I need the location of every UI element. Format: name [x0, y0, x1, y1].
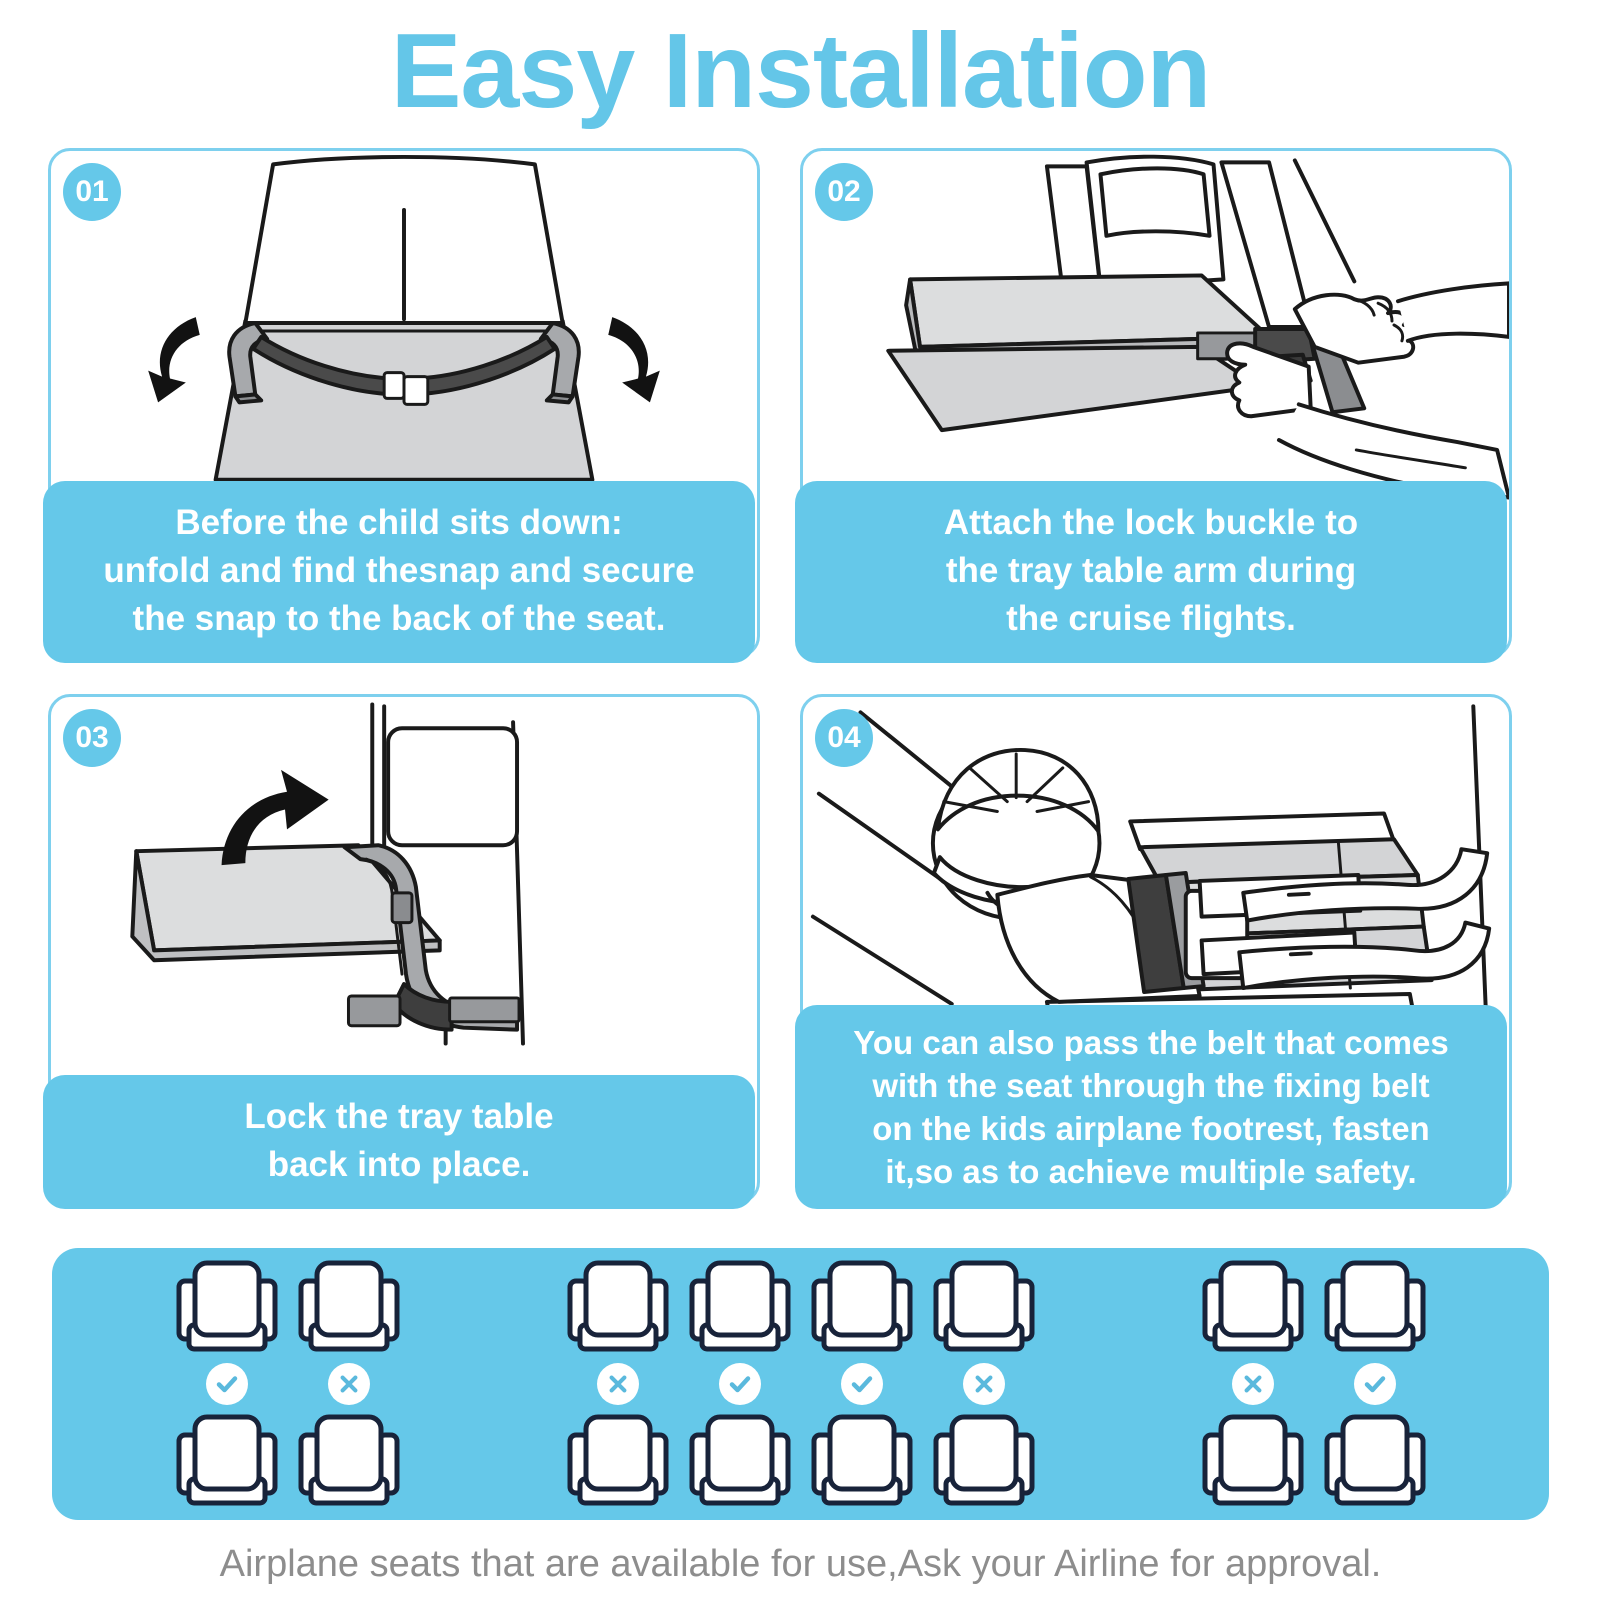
seat-availability-panel [52, 1248, 1549, 1520]
caption-line: You can also pass the belt that comes [803, 1021, 1499, 1064]
seat-column [1201, 1259, 1305, 1509]
airplane-seat-icon [1201, 1259, 1305, 1355]
seat-column [297, 1259, 401, 1509]
step-illustration-03 [51, 697, 757, 1049]
airplane-seat-icon [566, 1413, 670, 1509]
caption-line: the tray table arm during [805, 547, 1497, 595]
airplane-seat-icon [175, 1259, 279, 1355]
airplane-seat-icon [1323, 1413, 1427, 1509]
seat-status-wrap [1232, 1355, 1274, 1413]
seat-group [566, 1259, 1036, 1509]
seat-column [688, 1259, 792, 1509]
caption-line: with the seat through the fixing belt [803, 1064, 1499, 1107]
seat-groups [52, 1248, 1549, 1520]
step-badge-03: 03 [63, 709, 121, 767]
status-check-icon [1354, 1363, 1396, 1405]
status-check-icon [206, 1363, 248, 1405]
step-badge-01: 01 [63, 163, 121, 221]
caption-line: Before the child sits down: [53, 499, 745, 547]
step-illustration-02 [803, 151, 1509, 503]
step-badge-02: 02 [815, 163, 873, 221]
step-badge-04: 04 [815, 709, 873, 767]
caption-line: the cruise flights. [805, 595, 1497, 643]
step-card-03: 03 [48, 694, 760, 1204]
airplane-seat-icon [566, 1259, 670, 1355]
caption-line: back into place. [53, 1141, 745, 1189]
seat-column [932, 1259, 1036, 1509]
seat-column [1323, 1259, 1427, 1509]
steps-grid: 01 [48, 148, 1553, 1208]
step-card-01: 01 [48, 148, 760, 658]
caption-line: the snap to the back of the seat. [53, 595, 745, 643]
airplane-seat-icon [932, 1259, 1036, 1355]
status-check-icon [719, 1363, 761, 1405]
airplane-seat-icon [1323, 1259, 1427, 1355]
airplane-seat-icon [688, 1413, 792, 1509]
airplane-seat-icon [1201, 1413, 1305, 1509]
caption-line: on the kids airplane footrest, fasten [803, 1107, 1499, 1150]
caption-line: it,so as to achieve multiple safety. [803, 1150, 1499, 1193]
airplane-seat-icon [932, 1413, 1036, 1509]
seat-column [810, 1259, 914, 1509]
seat-status-wrap [597, 1355, 639, 1413]
seat-column [566, 1259, 670, 1509]
seat-status-wrap [328, 1355, 370, 1413]
step-caption-01: Before the child sits down: unfold and f… [43, 481, 755, 663]
step-caption-02: Attach the lock buckle to the tray table… [795, 481, 1507, 663]
status-cross-icon [597, 1363, 639, 1405]
seat-group [175, 1259, 401, 1509]
seat-group [1201, 1259, 1427, 1509]
seat-column [175, 1259, 279, 1509]
airplane-seat-icon [688, 1259, 792, 1355]
step-caption-04: You can also pass the belt that comes wi… [795, 1005, 1507, 1209]
status-check-icon [841, 1363, 883, 1405]
step-card-04: 04 [800, 694, 1512, 1204]
caption-line: unfold and find thesnap and secure [53, 547, 745, 595]
footer-note: Airplane seats that are available for us… [0, 1538, 1601, 1590]
airplane-seat-icon [810, 1259, 914, 1355]
airplane-seat-icon [297, 1413, 401, 1509]
seat-status-wrap [963, 1355, 1005, 1413]
seat-status-wrap [719, 1355, 761, 1413]
seat-status-wrap [841, 1355, 883, 1413]
airplane-seat-icon [810, 1413, 914, 1509]
status-cross-icon [328, 1363, 370, 1405]
airplane-seat-icon [175, 1413, 279, 1509]
page-title: Easy Installation [0, 8, 1601, 134]
status-cross-icon [1232, 1363, 1274, 1405]
caption-line: Lock the tray table [53, 1093, 745, 1141]
seat-status-wrap [206, 1355, 248, 1413]
status-cross-icon [963, 1363, 1005, 1405]
step-illustration-04 [803, 697, 1509, 1049]
seat-status-wrap [1354, 1355, 1396, 1413]
infographic-page: Easy Installation 01 [0, 0, 1601, 1601]
step-illustration-01 [51, 151, 757, 503]
caption-line: Attach the lock buckle to [805, 499, 1497, 547]
airplane-seat-icon [297, 1259, 401, 1355]
step-caption-03: Lock the tray table back into place. [43, 1075, 755, 1209]
step-card-02: 02 [800, 148, 1512, 658]
